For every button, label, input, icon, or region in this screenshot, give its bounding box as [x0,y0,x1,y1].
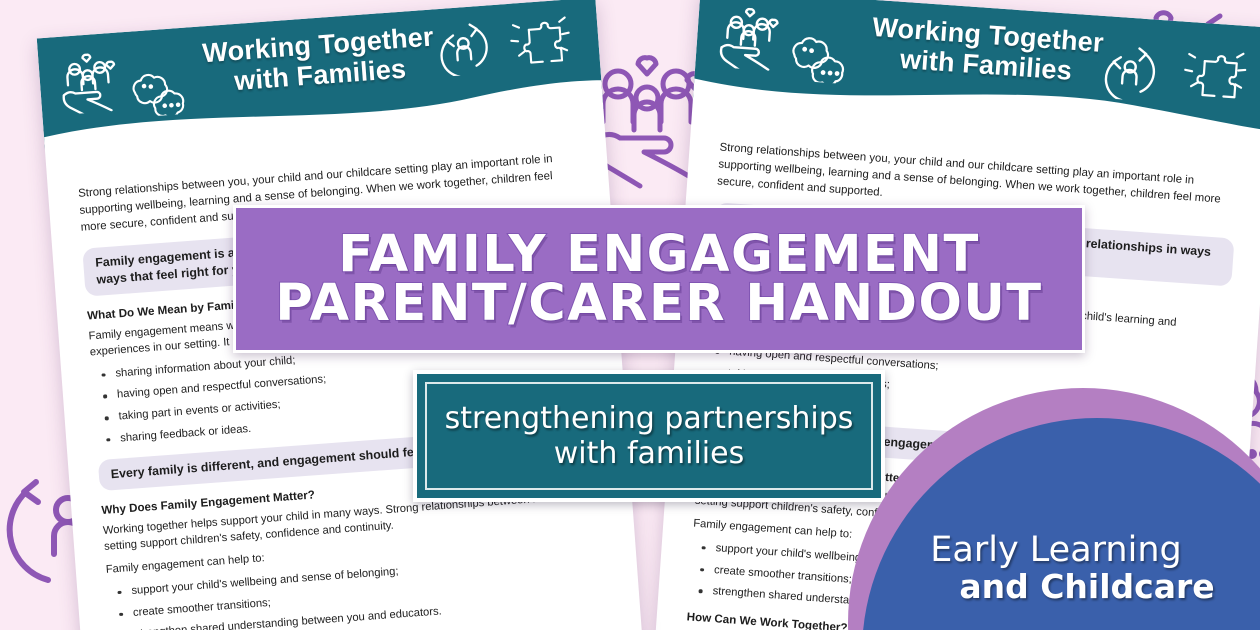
brand-line2: and Childcare [860,570,1252,604]
poster-canvas: Working Together with Families Strong re… [0,0,1260,630]
poster-title-banner: FAMILY ENGAGEMENT PARENT/CARER HANDOUT [233,205,1085,353]
poster-subtitle-box: strengthening partnerships with families [413,370,885,502]
poster-subtitle-line1: strengthening partnerships [445,401,854,436]
brand-badge-text: Early Learning and Childcare [860,533,1252,604]
poster-subtitle-inner-border: strengthening partnerships with families [425,382,873,490]
brand-line1: Early Learning [860,533,1252,569]
poster-title-line1: FAMILY ENGAGEMENT [338,230,980,279]
poster-subtitle-line2: with families [554,436,744,471]
poster-title-line2: PARENT/CARER HANDOUT [275,279,1042,328]
